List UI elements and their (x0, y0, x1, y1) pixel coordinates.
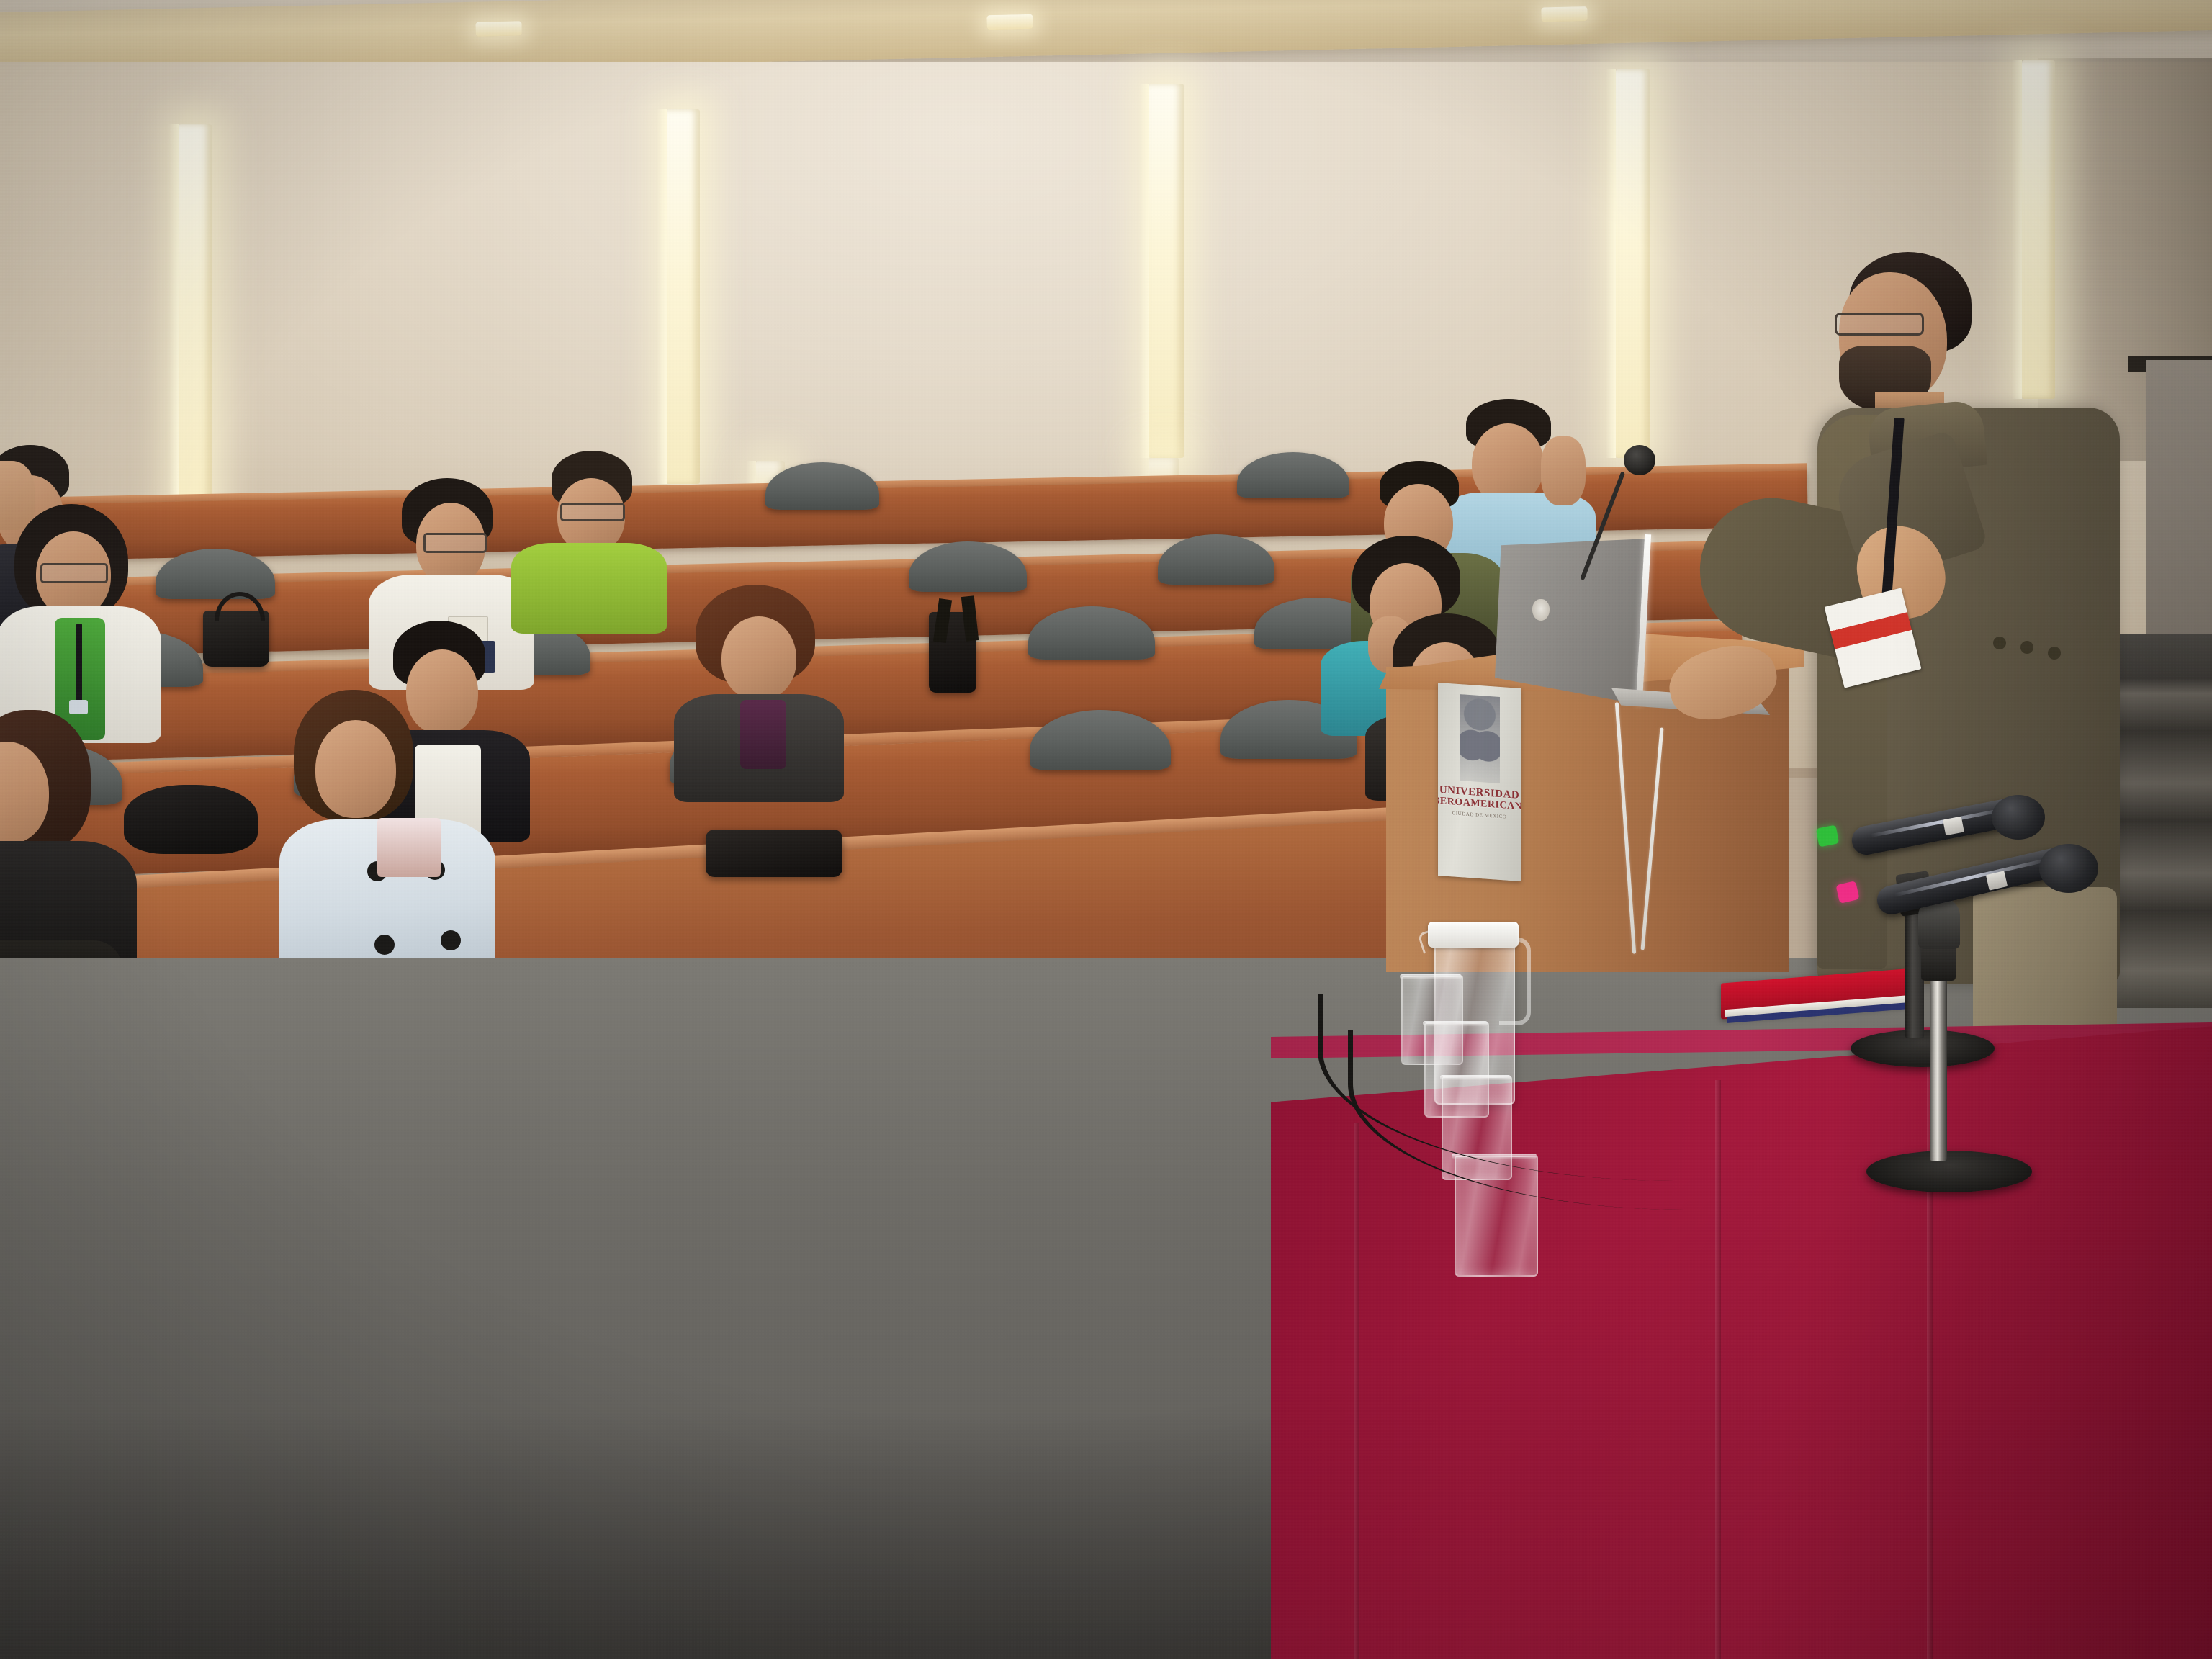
plaque-line-3: CIUDAD DE MEXICO (1452, 811, 1507, 821)
photograph-scene: ia (0, 0, 2212, 1659)
torso (511, 543, 667, 634)
inner-collar (377, 818, 441, 877)
head (721, 616, 796, 700)
propped-arm (1541, 436, 1586, 505)
wall-light-slot-4 (1616, 69, 1650, 458)
eyeglasses (560, 503, 625, 521)
badge-clip (69, 700, 88, 714)
jacket-button-3 (2048, 647, 2061, 660)
wall-light-slot-1 (179, 124, 212, 527)
raised-hand (0, 461, 35, 530)
purple-top (740, 700, 786, 769)
cloth-fold-1 (1354, 1123, 1359, 1659)
podium-plaque: UNIVERSIDAD IBEROAMERICANA CIUDAD DE MEX… (1438, 683, 1521, 881)
eyeglasses (40, 563, 108, 583)
wall-light-slot-5 (2022, 60, 2055, 399)
cove-lamp-2 (986, 14, 1033, 30)
microphone-stand-pole-front (1930, 965, 1947, 1161)
jacket-button-1 (1993, 637, 2006, 649)
cove-lamp-1 (475, 21, 521, 36)
wall-light-slot-2 (667, 109, 700, 484)
coat-button-3 (374, 935, 395, 955)
wall-light-slot-3 (1149, 84, 1184, 458)
head (315, 720, 396, 818)
microphone-rear-head (1992, 795, 2045, 840)
eyeglasses (423, 533, 487, 553)
microphone-rear-colour-ring (1816, 825, 1839, 848)
right-wall-panel (2146, 360, 2212, 662)
microphone-front-head (2039, 844, 2098, 893)
lanyard (76, 624, 82, 703)
presenter-eyeglasses (1835, 313, 1924, 336)
laptop-lid (1495, 539, 1650, 704)
cove-lamp-3 (1541, 6, 1587, 22)
glass-rim-1 (1400, 974, 1462, 979)
bag-on-front-desk (706, 829, 842, 877)
microphone-stand-base-front (1866, 1151, 2032, 1192)
coat-draped-on-seat (124, 785, 258, 854)
head (406, 649, 478, 734)
university-crest-icon (1460, 694, 1500, 783)
pitcher-lid (1428, 922, 1519, 948)
apple-logo-icon (1532, 599, 1550, 621)
gooseneck-microphone-icon (1624, 445, 1655, 475)
jacket-button-2 (2020, 641, 2033, 654)
coat-button-4 (441, 930, 461, 950)
